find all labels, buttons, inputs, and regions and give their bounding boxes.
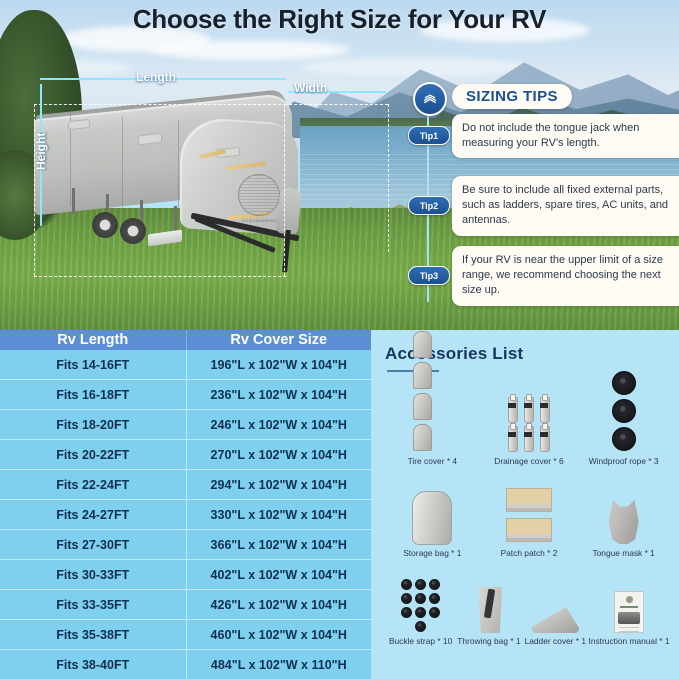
accessory-item: Storage bag * 1 — [385, 466, 480, 558]
tip-text-2: Be sure to include all fixed external pa… — [452, 176, 679, 236]
bottom-section: Rv Length Rv Cover Size Fits 14-16FT196"… — [0, 330, 679, 679]
rv-entry-step — [148, 230, 182, 247]
rv-brand-logo-icon — [238, 174, 280, 216]
column-header-rv-cover-size: Rv Cover Size — [186, 330, 372, 350]
table-row: Fits 22-24FT294"L x 102"W x 104"H — [0, 469, 371, 499]
cell-rv-length: Fits 24-27FT — [0, 500, 186, 529]
throwing-bag-icon — [476, 571, 502, 633]
dimension-guide-line — [388, 104, 389, 252]
accessory-item: Tire cover * 4 — [385, 374, 480, 466]
page-title: Choose the Right Size for Your RV — [0, 4, 679, 35]
accessory-item: Ladder cover * 1 — [522, 558, 589, 646]
cloud — [150, 40, 350, 60]
accessory-item: Patch patch * 2 — [480, 466, 579, 558]
cell-rv-length: Fits 14-16FT — [0, 350, 186, 379]
accessory-caption: Tire cover * 4 — [408, 456, 458, 466]
accessory-caption: Storage bag * 1 — [403, 548, 461, 558]
tip-badge-2: Tip2 — [408, 196, 450, 215]
rv-trailer-illustration: VILDVANDRING — [30, 92, 360, 252]
cell-rv-length: Fits 22-24FT — [0, 470, 186, 499]
dimension-guide-line — [34, 276, 286, 277]
height-label: Height — [34, 133, 48, 170]
tip-badge-1: Tip1 — [408, 126, 450, 145]
accessory-item: Drainage cover * 6 — [480, 374, 579, 466]
cell-rv-length: Fits 27-30FT — [0, 530, 186, 559]
table-row: Fits 20-22FT270"L x 102"W x 104"H — [0, 439, 371, 469]
buckle-strap-icon — [399, 571, 443, 633]
cell-rv-cover-size: 294"L x 102"W x 104"H — [186, 470, 372, 499]
accessory-item: Buckle strap * 10 — [385, 558, 456, 646]
cell-rv-cover-size: 330"L x 102"W x 104"H — [186, 500, 372, 529]
tire-cover-icon — [411, 387, 453, 453]
rv-tongue-jack-cover — [276, 187, 303, 235]
rv-cover-size-infographic: Choose the Right Size for Your RV VILDVA… — [0, 0, 679, 679]
accessory-caption: Drainage cover * 6 — [494, 456, 563, 466]
accessories-row: Tire cover * 4 Drainage cover * 6 — [385, 374, 669, 466]
sizing-tips-icon — [413, 82, 447, 116]
width-label: Width — [294, 81, 327, 95]
accessories-panel: Accessories List Tire cover * 4 — [371, 330, 679, 679]
rv-strap — [174, 206, 177, 232]
table-row: Fits 38-40FT484"L x 102"W x 110"H — [0, 649, 371, 679]
accessory-item: Windproof rope * 3 — [578, 374, 669, 466]
table-row: Fits 16-18FT236"L x 102"W x 104"H — [0, 379, 371, 409]
cell-rv-cover-size: 484"L x 102"W x 110"H — [186, 650, 372, 679]
accessory-caption: Throwing bag * 1 — [457, 636, 520, 646]
accessory-item: Tongue mask * 1 — [578, 466, 669, 558]
accessory-caption: Instruction manual * 1 — [589, 636, 670, 646]
accessory-caption: Windproof rope * 3 — [589, 456, 659, 466]
accessory-caption: Ladder cover * 1 — [525, 636, 586, 646]
dimension-guide-line — [284, 104, 388, 105]
accessory-item: Throwing bag * 1 — [456, 558, 521, 646]
table-body: Fits 14-16FT196"L x 102"W x 104"HFits 16… — [0, 350, 371, 679]
tip-badge-3: Tip3 — [408, 266, 450, 285]
rv-wheel — [120, 218, 146, 244]
drainage-cover-icon — [505, 387, 553, 453]
patch-icon — [506, 479, 552, 545]
instruction-manual-icon — [614, 571, 644, 633]
dimension-guide-line — [34, 104, 286, 105]
rv-wheel — [92, 212, 118, 238]
dimension-guide-line — [34, 104, 35, 276]
size-chart-table: Rv Length Rv Cover Size Fits 14-16FT196"… — [0, 330, 371, 679]
tip-text-3: If your RV is near the upper limit of a … — [452, 246, 679, 306]
rv-strap — [72, 188, 75, 214]
table-row: Fits 27-30FT366"L x 102"W x 104"H — [0, 529, 371, 559]
cell-rv-cover-size: 366"L x 102"W x 104"H — [186, 530, 372, 559]
accessories-row: Buckle strap * 10 Throwing bag * 1 Ladde… — [385, 558, 669, 646]
tongue-mask-icon — [607, 479, 641, 545]
rv-panel-seam — [122, 117, 123, 209]
cell-rv-cover-size: 460"L x 102"W x 104"H — [186, 620, 372, 649]
cell-rv-length: Fits 38-40FT — [0, 650, 186, 679]
table-row: Fits 14-16FT196"L x 102"W x 104"H — [0, 350, 371, 379]
accessory-caption: Buckle strap * 10 — [389, 636, 452, 646]
column-header-rv-length: Rv Length — [0, 330, 186, 350]
cell-rv-length: Fits 20-22FT — [0, 440, 186, 469]
dimension-guide-line — [284, 104, 285, 276]
length-label: Length — [136, 70, 176, 84]
accessory-caption: Tongue mask * 1 — [592, 548, 654, 558]
cell-rv-cover-size: 196"L x 102"W x 104"H — [186, 350, 372, 379]
storage-bag-icon — [412, 479, 452, 545]
cell-rv-cover-size: 236"L x 102"W x 104"H — [186, 380, 372, 409]
table-row: Fits 35-38FT460"L x 102"W x 104"H — [0, 619, 371, 649]
table-header-row: Rv Length Rv Cover Size — [0, 330, 371, 350]
tip-text-1: Do not include the tongue jack when meas… — [452, 114, 679, 158]
cell-rv-length: Fits 30-33FT — [0, 560, 186, 589]
hero-banner: Choose the Right Size for Your RV VILDVA… — [0, 0, 679, 330]
cell-rv-length: Fits 35-38FT — [0, 620, 186, 649]
cell-rv-length: Fits 16-18FT — [0, 380, 186, 409]
windproof-rope-icon — [598, 387, 650, 453]
cell-rv-cover-size: 426"L x 102"W x 104"H — [186, 590, 372, 619]
ladder-cover-icon — [531, 571, 579, 633]
cell-rv-length: Fits 33-35FT — [0, 590, 186, 619]
accessories-row: Storage bag * 1 Patch patch * 2 — [385, 466, 669, 558]
table-row: Fits 18-20FT246"L x 102"W x 104"H — [0, 409, 371, 439]
table-row: Fits 30-33FT402"L x 102"W x 104"H — [0, 559, 371, 589]
accessory-item: Instruction manual * 1 — [589, 558, 669, 646]
cell-rv-cover-size: 402"L x 102"W x 104"H — [186, 560, 372, 589]
sizing-tips-header: SIZING TIPS — [452, 84, 572, 109]
accessory-caption: Patch patch * 2 — [501, 548, 558, 558]
cell-rv-cover-size: 270"L x 102"W x 104"H — [186, 440, 372, 469]
table-row: Fits 24-27FT330"L x 102"W x 104"H — [0, 499, 371, 529]
accessories-grid: Tire cover * 4 Drainage cover * 6 — [385, 374, 669, 646]
cell-rv-length: Fits 18-20FT — [0, 410, 186, 439]
table-row: Fits 33-35FT426"L x 102"W x 104"H — [0, 589, 371, 619]
cell-rv-cover-size: 246"L x 102"W x 104"H — [186, 410, 372, 439]
rv-panel-seam — [178, 120, 179, 212]
